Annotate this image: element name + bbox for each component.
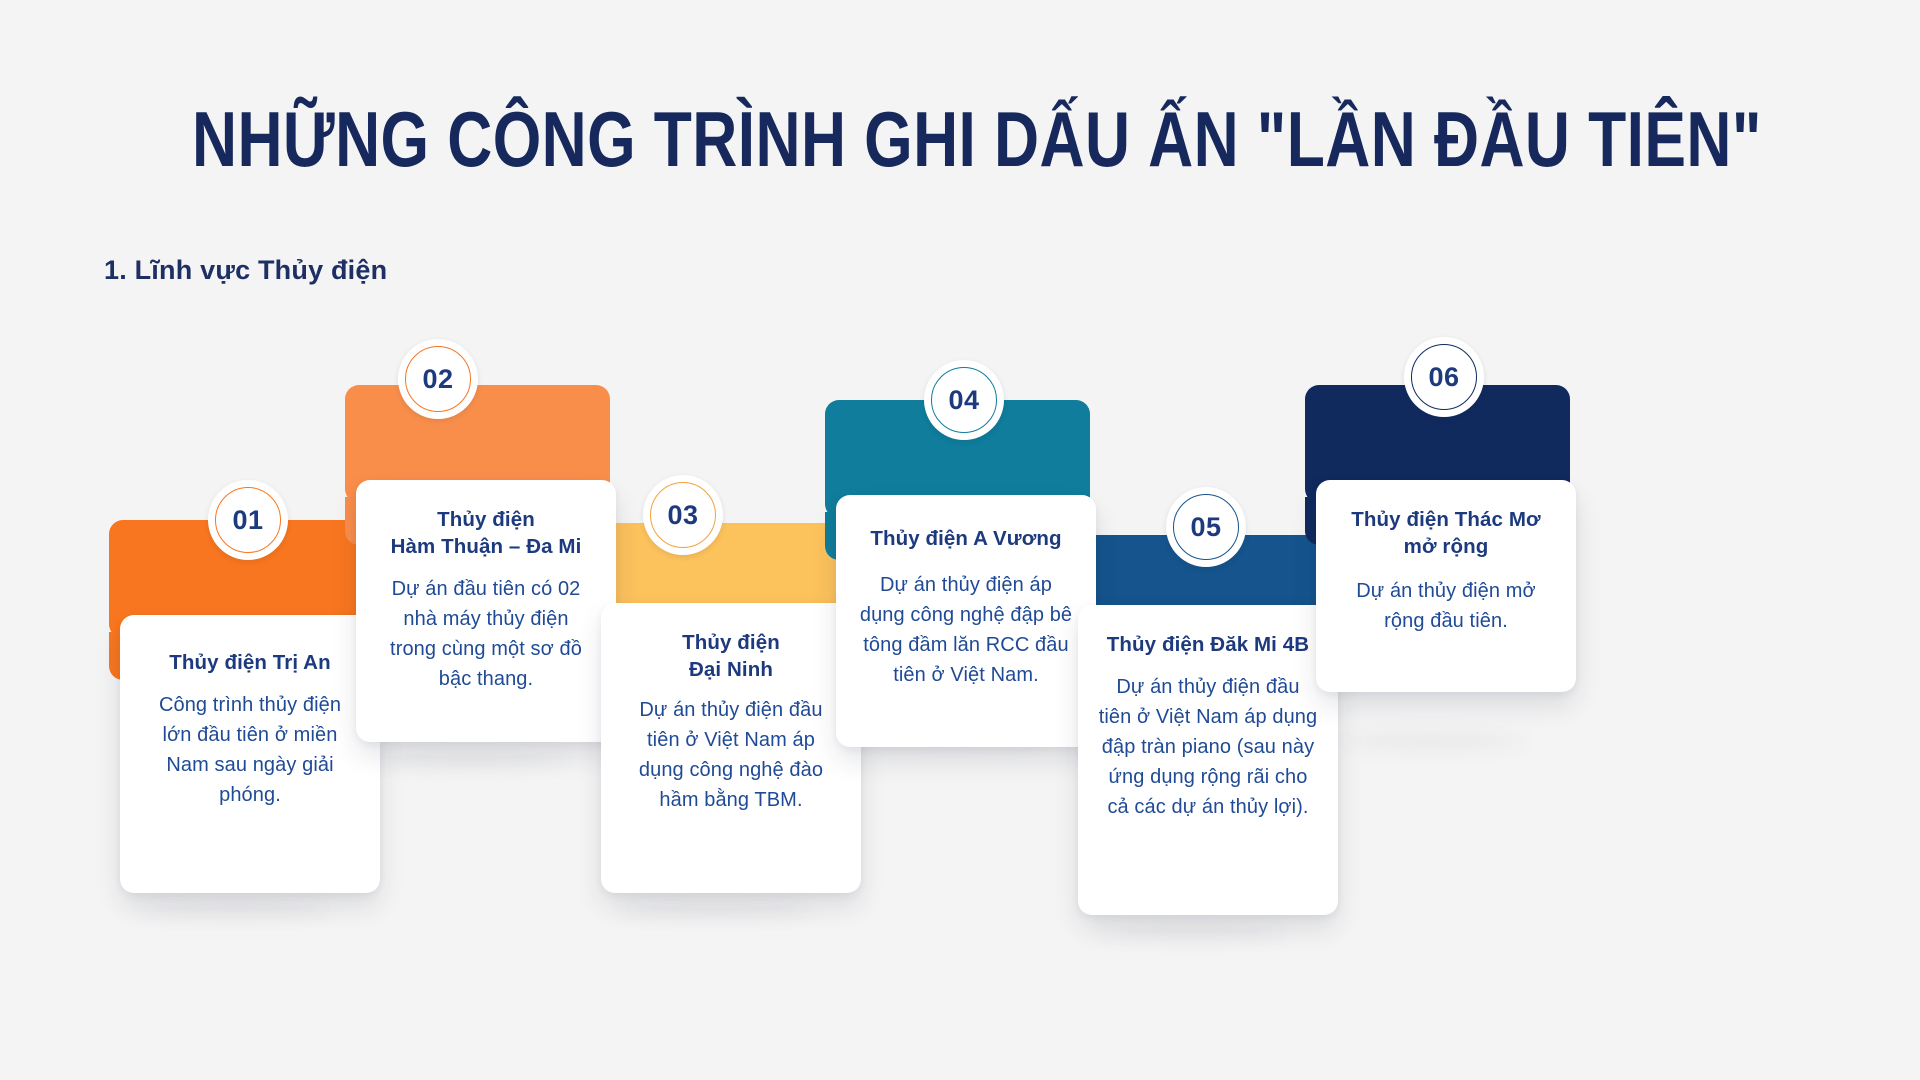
card-title-line-2: Hàm Thuận – Đa Mi: [378, 533, 594, 560]
card-badge: 05: [1166, 487, 1246, 567]
card-body: Thủy điện Đăk Mi 4B Dự án thủy điện đầu …: [1078, 605, 1338, 915]
badge-number: 02: [422, 366, 453, 393]
section-subtitle: 1. Lĩnh vực Thủy điện: [104, 255, 387, 286]
page-title: NHỮNG CÔNG TRÌNH GHI DẤU ẤN "LẦN ĐẦU TIÊ…: [192, 96, 1728, 182]
card-body: Thủy điện Hàm Thuận – Đa Mi Dự án đầu ti…: [356, 480, 616, 742]
card-title-line-1: Thủy điện: [378, 506, 594, 533]
card-badge: 04: [924, 360, 1004, 440]
card-title: Thủy điện Trị An: [144, 649, 356, 676]
card-title-line-1: Thủy điện: [625, 629, 837, 656]
card-description: Dự án thủy điện mở rộng đầu tiên.: [1338, 576, 1554, 636]
card-body: Thủy điện Thác Mơ mở rộng Dự án thủy điệ…: [1316, 480, 1576, 692]
infographic-canvas: NHỮNG CÔNG TRÌNH GHI DẤU ẤN "LẦN ĐẦU TIÊ…: [0, 0, 1920, 1080]
card-title-line-2: Đại Ninh: [625, 656, 837, 683]
card-description: Dự án thủy điện đầu tiên ở Việt Nam áp d…: [1098, 672, 1318, 822]
card-shadow: [1336, 733, 1526, 749]
card-description: Dự án thủy điện đầu tiên ở Việt Nam áp d…: [625, 695, 837, 815]
badge-number: 04: [948, 387, 979, 414]
card-badge: 01: [208, 480, 288, 560]
card-shadow: [140, 900, 330, 916]
card-badge: 06: [1404, 337, 1484, 417]
card-shadow: [376, 751, 566, 767]
card-body: Thủy điện Đại Ninh Dự án thủy điện đầu t…: [601, 603, 861, 893]
card-badge: 02: [398, 339, 478, 419]
card-description: Dự án thủy điện áp dụng công nghệ đập bê…: [856, 570, 1076, 690]
card-description: Dự án đầu tiên có 02 nhà máy thủy điện t…: [378, 574, 594, 694]
card-body: Thủy điện Trị An Công trình thủy điện lớ…: [120, 615, 380, 893]
badge-number: 05: [1190, 514, 1221, 541]
card-title: Thủy điện Đăk Mi 4B: [1098, 631, 1318, 658]
card-body: Thủy điện A Vương Dự án thủy điện áp dụn…: [836, 495, 1096, 747]
card-title: Thủy điện A Vương: [856, 525, 1076, 552]
card-badge: 03: [643, 475, 723, 555]
badge-number: 01: [232, 507, 263, 534]
card-title-line-1: Thủy điện Thác Mơ: [1338, 506, 1554, 533]
card-title-line-2: mở rộng: [1338, 533, 1554, 560]
badge-number: 03: [667, 502, 698, 529]
card-description: Công trình thủy điện lớn đầu tiên ở miền…: [144, 690, 356, 810]
card-shadow: [1098, 923, 1288, 939]
card-shadow: [621, 901, 811, 917]
badge-number: 06: [1428, 364, 1459, 391]
